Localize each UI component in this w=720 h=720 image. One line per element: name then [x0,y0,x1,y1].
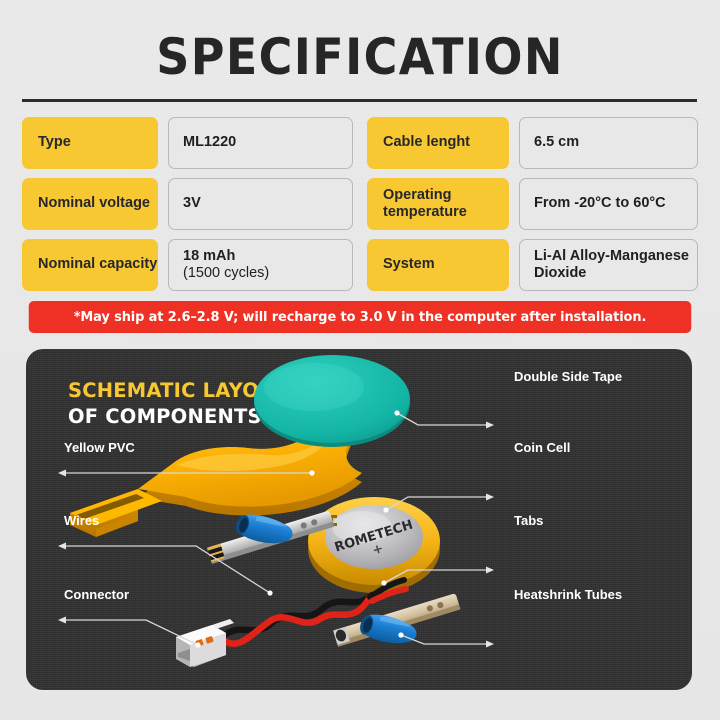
voltage-notice-text: *May ship at 2.6–2.8 V; will recharge to… [74,310,647,325]
callout-tabs: Tabs [514,513,543,528]
callout-heatshrink-tubes: Heatshrink Tubes [514,587,622,602]
specification-table: Type ML1220 Nominal voltage 3V Nominal c… [22,117,698,291]
spec-value-operating-temperature-main: From -20°C to 60°C [534,195,689,212]
callout-wires: Wires [64,513,99,528]
page-title: SPECIFICATION [29,28,691,86]
spec-value-nominal-voltage: 3V [168,178,353,230]
spec-key-system: System [367,239,509,291]
spec-value-cable-length-main: 6.5 cm [534,134,689,151]
spec-row-nominal-capacity: Nominal capacity 18 mAh (1500 cycles) [22,239,353,291]
callout-connector: Connector [64,587,129,602]
spec-key-type: Type [22,117,158,169]
spec-row-type: Type ML1220 [22,117,353,169]
spec-value-nominal-voltage-main: 3V [183,195,344,212]
spec-row-nominal-voltage: Nominal voltage 3V [22,178,353,230]
spec-value-nominal-capacity-main: 18 mAh [183,248,344,265]
voltage-notice-banner: *May ship at 2.6–2.8 V; will recharge to… [29,301,691,333]
callout-double-side-tape: Double Side Tape [514,369,622,384]
spec-row-cable-length: Cable lenght 6.5 cm [367,117,698,169]
title-divider [22,99,697,102]
spec-value-type: ML1220 [168,117,353,169]
spec-value-type-main: ML1220 [183,134,344,151]
callout-coin-cell: Coin Cell [514,440,570,455]
spec-key-operating-temperature: Operating temperature [367,178,509,230]
spec-column-left: Type ML1220 Nominal voltage 3V Nominal c… [22,117,353,291]
callout-yellow-pvc: Yellow PVC [64,440,135,455]
spec-value-operating-temperature: From -20°C to 60°C [519,178,698,230]
spec-value-nominal-capacity: 18 mAh (1500 cycles) [168,239,353,291]
spec-key-cable-length: Cable lenght [367,117,509,169]
spec-value-system: Li-Al Alloy-Manganese Dioxide [519,239,698,291]
spec-key-nominal-capacity: Nominal capacity [22,239,158,291]
spec-value-system-main: Li-Al Alloy-Manganese Dioxide [534,248,689,283]
spec-value-cable-length: 6.5 cm [519,117,698,169]
schematic-panel: SCHEMATIC LAYOUT OF COMPONENTS [26,349,692,690]
spec-column-right: Cable lenght 6.5 cm Operating temperatur… [367,117,698,291]
callout-leader-lines [26,349,692,690]
spec-value-nominal-capacity-sub: (1500 cycles) [183,265,344,282]
spec-row-system: System Li-Al Alloy-Manganese Dioxide [367,239,698,291]
spec-key-nominal-voltage: Nominal voltage [22,178,158,230]
spec-row-operating-temperature: Operating temperature From -20°C to 60°C [367,178,698,230]
